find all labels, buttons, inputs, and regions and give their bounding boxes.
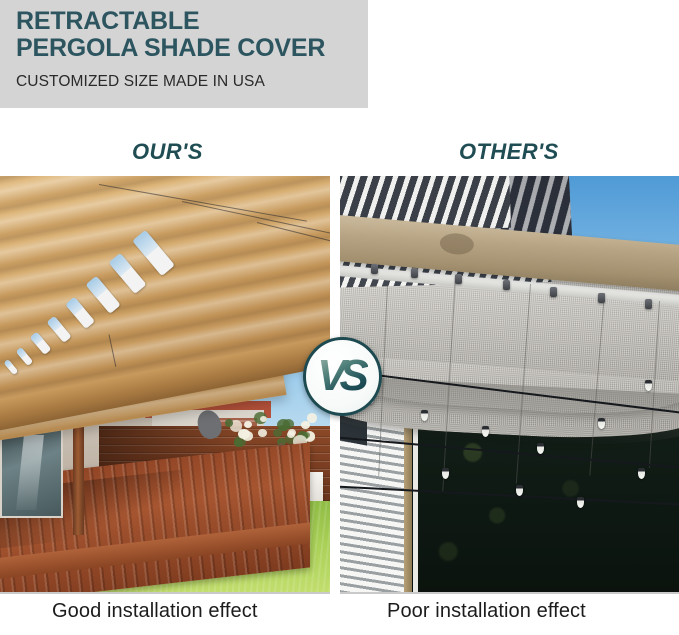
mesh-clip — [503, 280, 510, 290]
tree-blossom — [260, 416, 267, 422]
mesh-clip — [598, 293, 605, 303]
mesh-clip — [645, 299, 652, 309]
caption-row: Good installation effect Poor installati… — [0, 596, 679, 635]
label-ours: OUR'S — [132, 139, 203, 165]
vs-label: VS — [317, 354, 368, 398]
label-others: OTHER'S — [459, 139, 559, 165]
tree-blossom — [258, 429, 267, 437]
product-title-line-2: PERGOLA SHADE COVER — [16, 35, 364, 62]
photo-divider-gap — [330, 592, 340, 594]
product-title-line-1: RETRACTABLE — [16, 8, 364, 35]
tree-leaf — [273, 429, 282, 437]
light-bulb — [598, 418, 605, 429]
light-bulb — [516, 485, 523, 496]
product-comparison-image: RETRACTABLE PERGOLA SHADE COVER CUSTOMIZ… — [0, 0, 679, 635]
tree-blossom — [307, 413, 318, 423]
light-bulb — [537, 443, 544, 454]
caption-poor: Poor installation effect — [387, 596, 586, 626]
mesh-clip — [371, 264, 378, 274]
vs-badge: VS — [303, 337, 382, 416]
mesh-clip — [455, 274, 462, 284]
ours-photo — [0, 176, 330, 593]
light-bulb — [442, 468, 449, 479]
mesh-clip — [550, 287, 557, 297]
mesh-clip — [411, 268, 418, 278]
comparison-labels: OUR'S OTHER'S — [0, 139, 679, 173]
tree-blossom — [244, 421, 252, 428]
title-block: RETRACTABLE PERGOLA SHADE COVER — [16, 8, 364, 62]
caption-good: Good installation effect — [52, 596, 258, 626]
others-photo — [340, 176, 679, 593]
tree-leaf — [234, 439, 243, 447]
tree-blossom — [238, 429, 250, 440]
header-band: RETRACTABLE PERGOLA SHADE COVER CUSTOMIZ… — [0, 0, 368, 108]
tree-blossom — [288, 429, 296, 436]
product-subtitle: CUSTOMIZED SIZE MADE IN USA — [16, 72, 265, 91]
